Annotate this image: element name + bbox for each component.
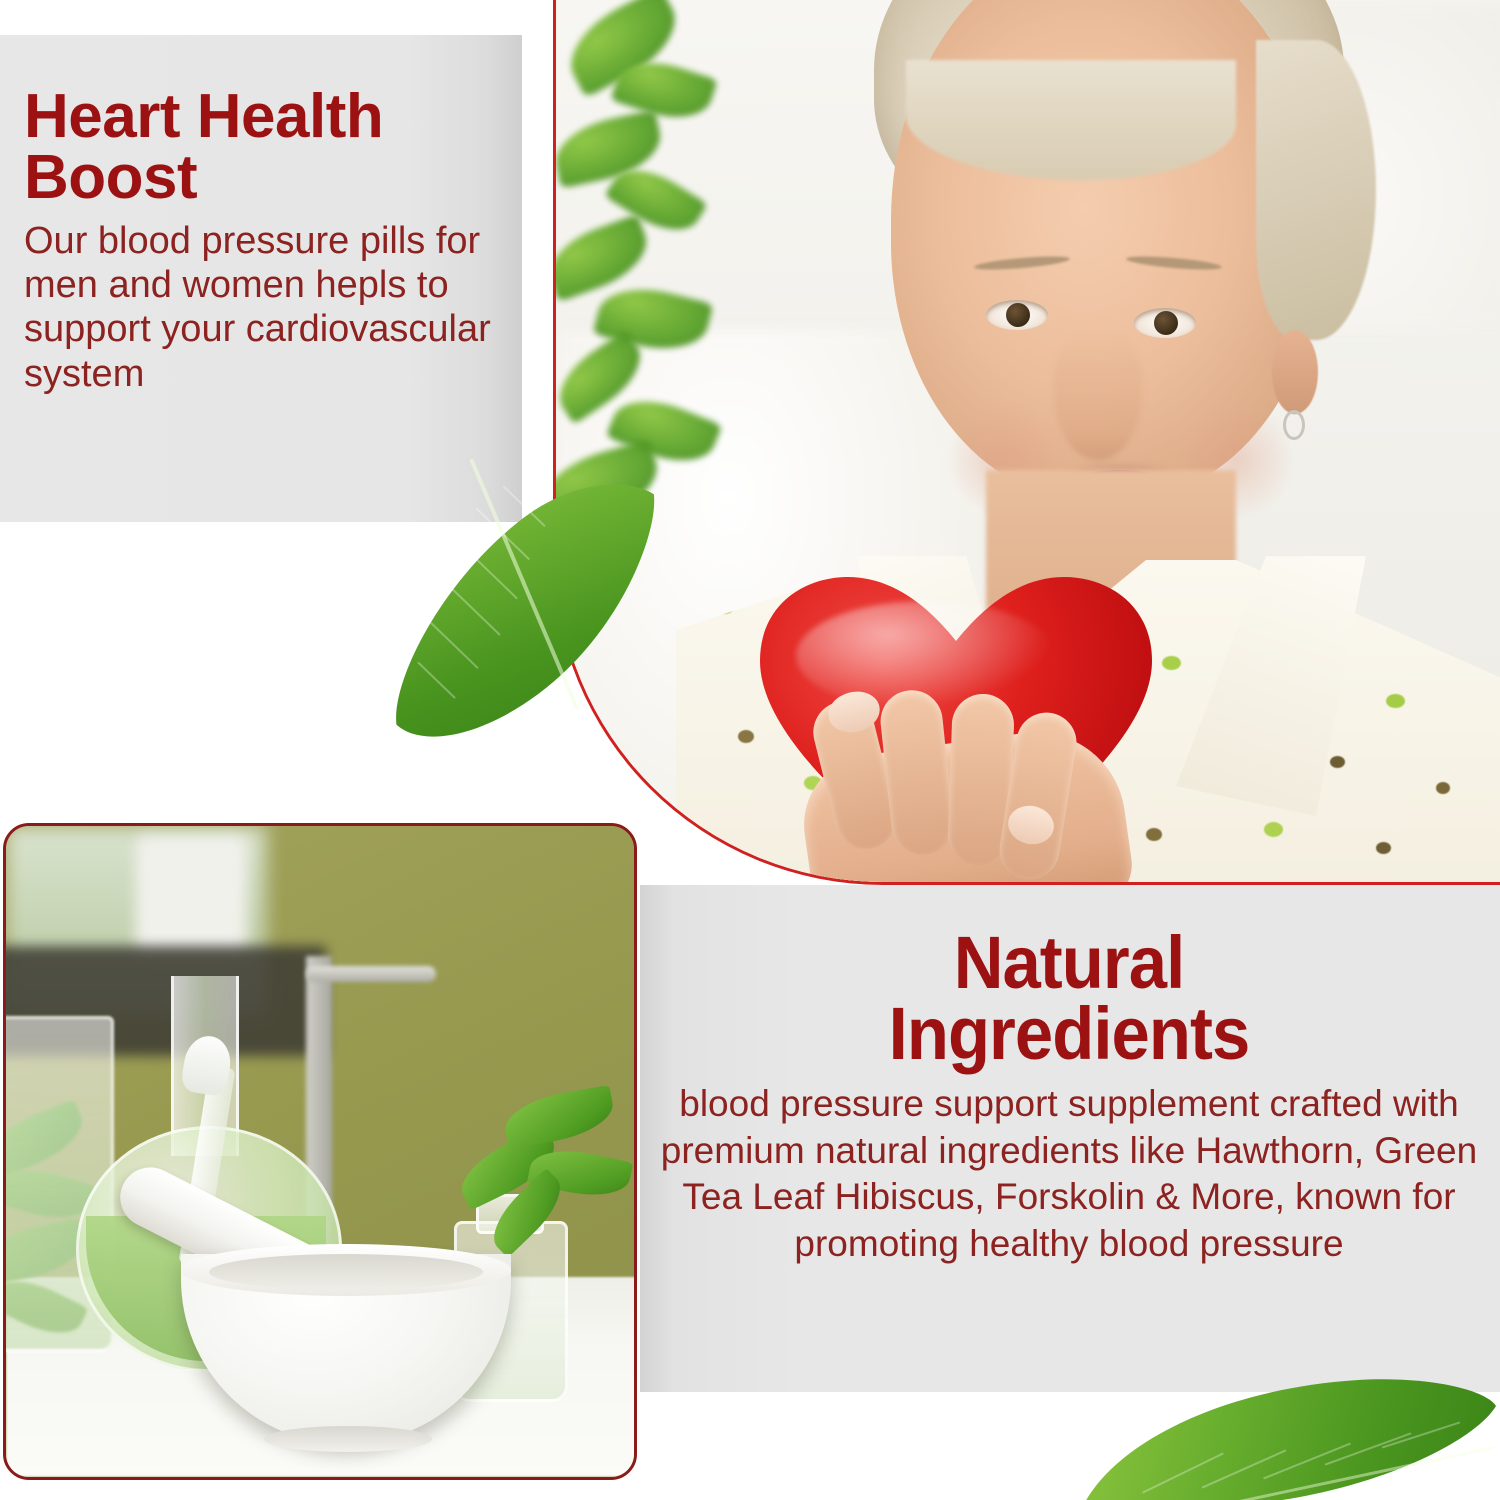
heading-heart-health-boost: Heart Health Boost	[24, 87, 496, 209]
heading-line-2: Boost	[24, 143, 197, 212]
nose	[1054, 330, 1142, 460]
heading-line-2: Ingredients	[889, 992, 1250, 1075]
mortar-inner	[209, 1254, 483, 1290]
hair-side	[1256, 40, 1376, 340]
infographic-canvas: Heart Health Boost Our blood pressure pi…	[0, 0, 1500, 1500]
heading-natural-ingredients: Natural Ingredients	[683, 927, 1455, 1069]
pupil-right	[1154, 311, 1178, 335]
body-heart-health-boost: Our blood pressure pills for men and wom…	[24, 219, 496, 397]
body-natural-ingredients: blood pressure support supplement crafte…	[654, 1081, 1484, 1267]
photo-woman-with-heart	[553, 0, 1500, 885]
white-pot-blur	[136, 836, 246, 956]
ear	[1272, 330, 1318, 414]
heading-line-1: Heart Health	[24, 82, 383, 151]
leaf-blade	[1078, 1376, 1498, 1500]
pupil-left	[1006, 303, 1030, 327]
leaf-icon-bottom-right	[1078, 1376, 1498, 1500]
houseplant-blur	[553, 0, 796, 540]
photo-mortar-and-pestle	[3, 823, 637, 1480]
mortar-foot	[264, 1426, 432, 1452]
panel-natural-ingredients: Natural Ingredients blood pressure suppo…	[640, 885, 1500, 1392]
plant-sprig	[446, 1076, 636, 1246]
